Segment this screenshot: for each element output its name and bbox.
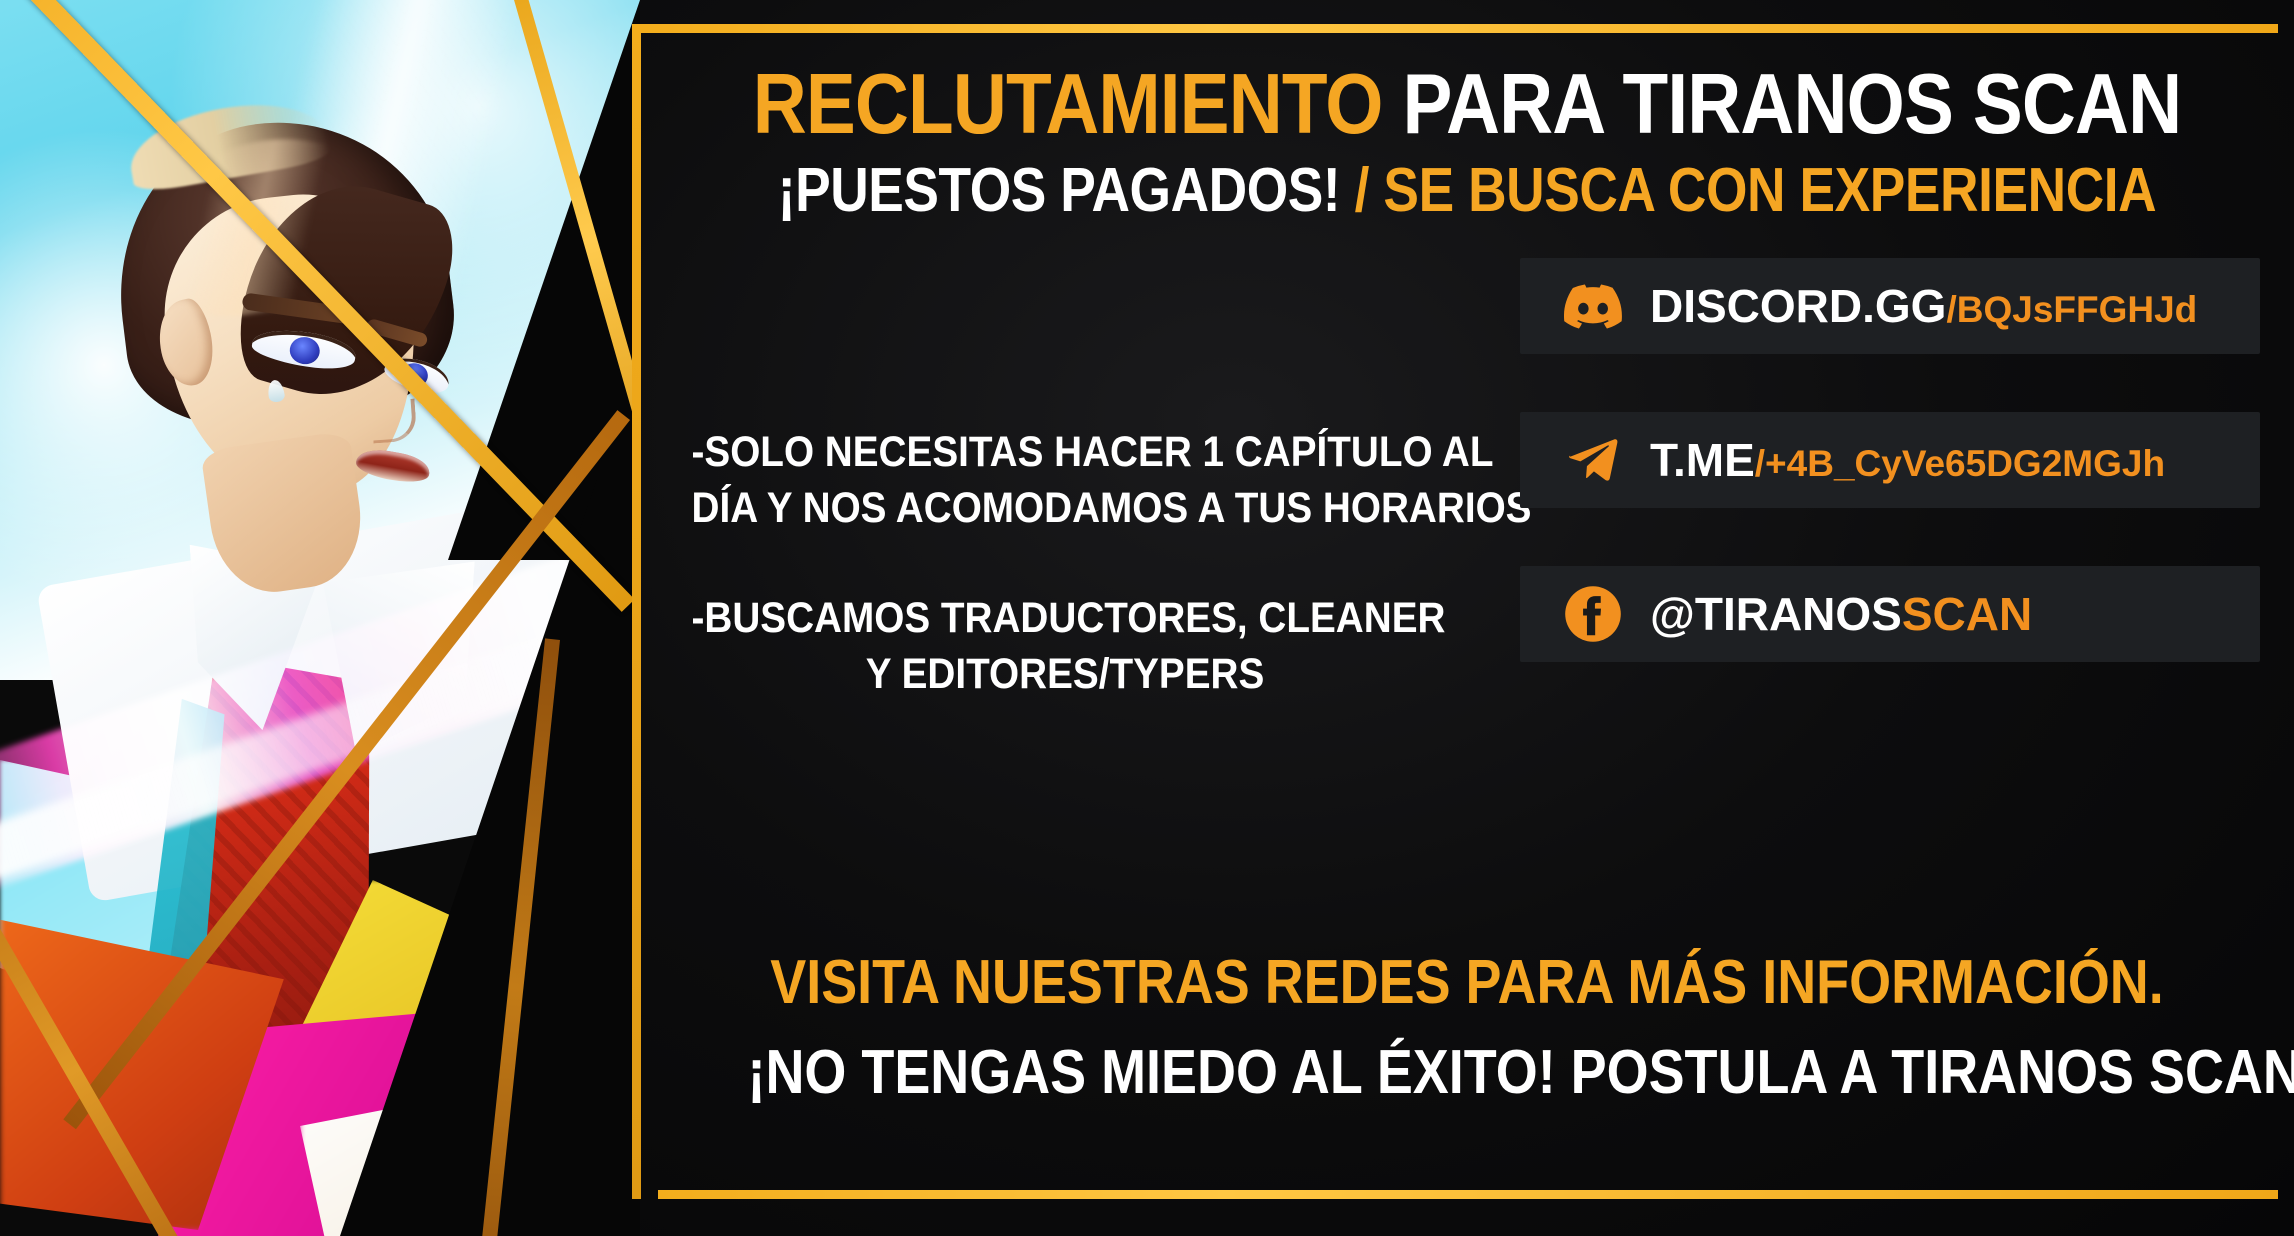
headline-part-highlight: RECLUTAMIENTO	[753, 57, 1383, 152]
bullet-line: -BUSCAMOS TRADUCTORES, CLEANER	[692, 591, 1439, 647]
character-illustration	[0, 0, 640, 1236]
contact-telegram[interactable]: T.ME/+4B_CyVe65DG2MGJh	[1520, 412, 2260, 508]
bullet-line: -SOLO NECESITAS HACER 1 CAPÍTULO AL	[692, 425, 1439, 481]
content-panel: RECLUTAMIENTO PARA TIRANOS SCAN ¡PUESTOS…	[640, 0, 2294, 1236]
gold-rule-top	[640, 24, 2278, 33]
contact-list: DISCORD.GG/BQJsFFGHJd T.ME/+4B_CyVe65DG2…	[1520, 258, 2260, 662]
contact-telegram-text: T.ME/+4B_CyVe65DG2MGJh	[1650, 433, 2165, 487]
subtitle-separator: /	[1355, 156, 1369, 225]
call-to-action: VISITA NUESTRAS REDES PARA MÁS INFORMACI…	[748, 952, 2187, 1104]
cta-line-2: ¡NO TENGAS MIEDO AL ÉXITO! POSTULA A TIR…	[748, 1042, 2187, 1104]
recruitment-banner: RECLUTAMIENTO PARA TIRANOS SCAN ¡PUESTOS…	[0, 0, 2294, 1236]
contact-facebook-text: @TIRANOSSCAN	[1650, 587, 2032, 641]
discord-invite-code: /BQJsFFGHJd	[1946, 289, 2197, 330]
facebook-handle-suffix: SCAN	[1902, 588, 2032, 640]
iris-left	[288, 335, 322, 366]
contact-discord[interactable]: DISCORD.GG/BQJsFFGHJd	[1520, 258, 2260, 354]
gold-rule-bottom	[658, 1190, 2278, 1199]
page-subtitle: ¡PUESTOS PAGADOS! / SE BUSCA CON EXPERIE…	[756, 155, 2178, 226]
subtitle-experience: SE BUSCA CON EXPERIENCIA	[1383, 156, 2156, 225]
contact-discord-text: DISCORD.GG/BQJsFFGHJd	[1650, 279, 2197, 333]
artwork-panel	[0, 0, 640, 1236]
bullet-line: Y EDITORES/TYPERS	[692, 647, 1439, 703]
page-title: RECLUTAMIENTO PARA TIRANOS SCAN	[739, 62, 2195, 149]
cta-line-1: VISITA NUESTRAS REDES PARA MÁS INFORMACI…	[748, 952, 2187, 1014]
gold-rule-left	[632, 24, 641, 1199]
facebook-handle: @TIRANOS	[1650, 588, 1902, 640]
telegram-domain: T.ME	[1650, 434, 1755, 486]
discord-icon	[1562, 275, 1624, 337]
list-item: -BUSCAMOS TRADUCTORES, CLEANER Y EDITORE…	[692, 591, 1439, 703]
bullet-line: DÍA Y NOS ACOMODAMOS A TUS HORARIOS	[692, 481, 1439, 537]
telegram-icon	[1562, 429, 1624, 491]
subtitle-paid-positions: ¡PUESTOS PAGADOS!	[778, 156, 1341, 225]
headline-part-plain: PARA TIRANOS SCAN	[1403, 57, 2182, 152]
list-item: -SOLO NECESITAS HACER 1 CAPÍTULO AL DÍA …	[692, 425, 1439, 537]
contact-facebook[interactable]: @TIRANOSSCAN	[1520, 566, 2260, 662]
facebook-icon	[1562, 583, 1624, 645]
telegram-invite-code: /+4B_CyVe65DG2MGJh	[1755, 443, 2165, 484]
requirements-list: -SOLO NECESITAS HACER 1 CAPÍTULO AL DÍA …	[692, 425, 1439, 703]
discord-domain: DISCORD.GG	[1650, 280, 1946, 332]
